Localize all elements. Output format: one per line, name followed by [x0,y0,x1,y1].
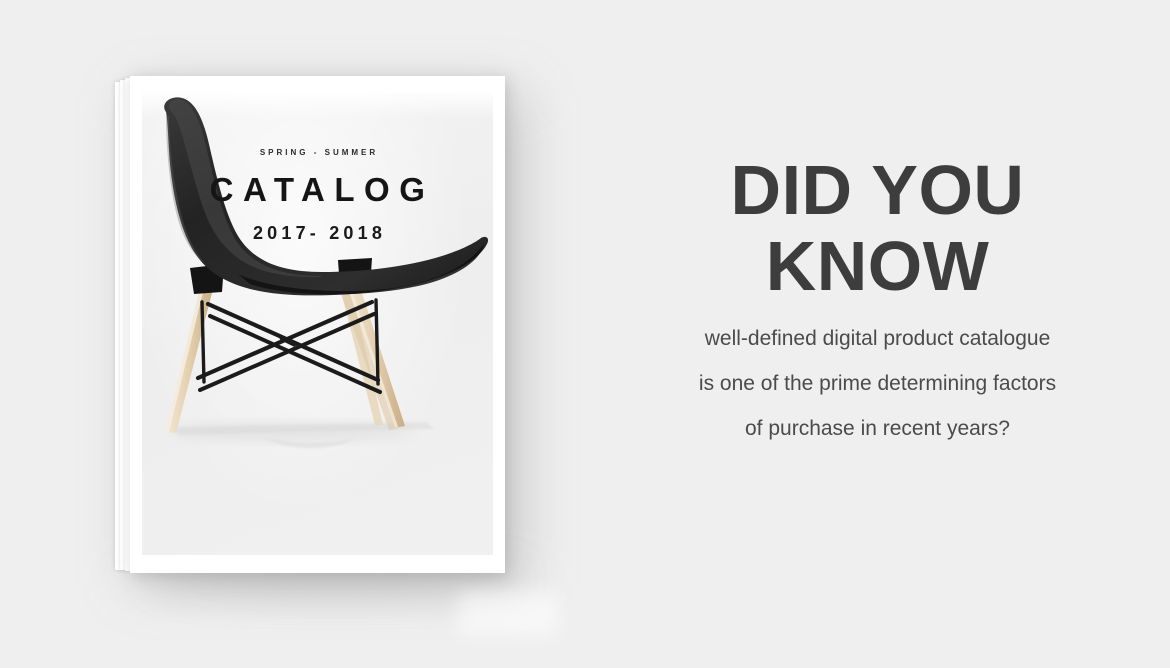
cover-title: CATALOG [142,173,493,206]
cover-years: 2017- 2018 [142,223,493,244]
cover-typography: SPRING - SUMMER CATALOG 2017- 2018 [142,148,493,244]
book-cover: SPRING - SUMMER CATALOG 2017- 2018 [130,76,505,573]
floor-light-reflection [458,592,558,636]
headline-line-1: DID YOU [585,155,1170,225]
body-line-2: is one of the prime determining factors [585,361,1170,406]
body-line-3: of purchase in recent years? [585,406,1170,451]
body-line-1: well-defined digital product catalogue [585,316,1170,361]
book-cover-artwork: SPRING - SUMMER CATALOG 2017- 2018 [142,92,493,555]
promo-headline: DID YOU KNOW [585,155,1170,301]
cover-season-label: SPRING - SUMMER [142,148,493,157]
headline-line-2: KNOW [585,231,1170,301]
catalog-book-area: SPRING - SUMMER CATALOG 2017- 2018 [0,0,580,668]
promo-body-copy: well-defined digital product catalogue i… [585,316,1170,451]
chair-leg-highlight [166,284,205,432]
slide-canvas: SPRING - SUMMER CATALOG 2017- 2018 DID Y… [0,0,1170,668]
promo-text-column: DID YOU KNOW well-defined digital produc… [585,0,1170,668]
